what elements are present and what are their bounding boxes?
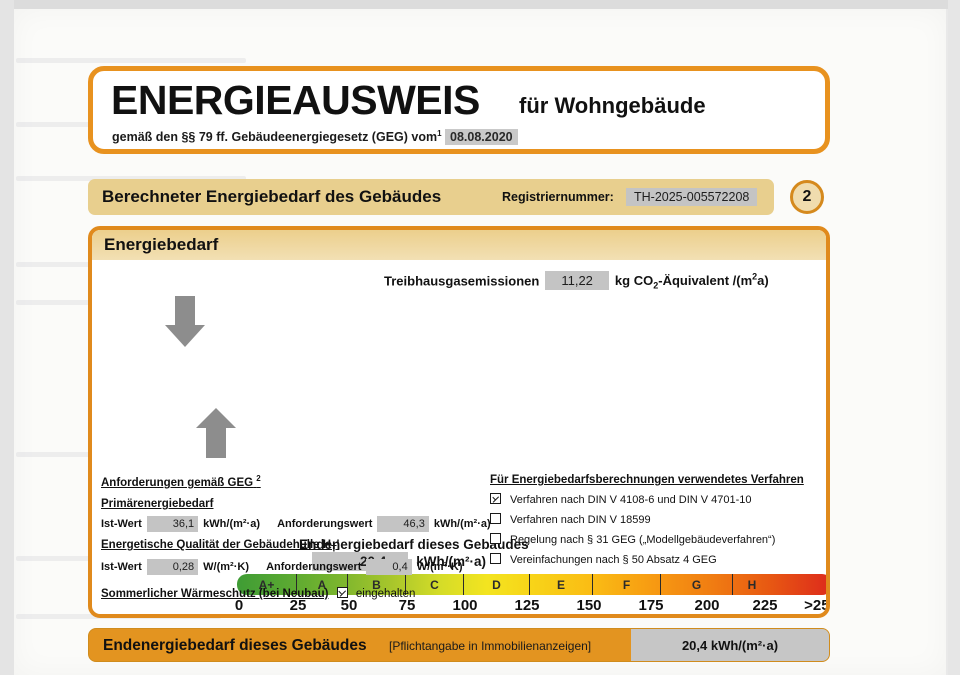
page-subtitle: für Wohngebäude xyxy=(519,93,706,119)
summer-heat-protection-row: Sommerlicher Wärmeschutz (bei Neubau) ei… xyxy=(101,587,491,600)
primary-required-value: 46,3 xyxy=(377,516,428,532)
legal-basis-text: gemäß den §§ 79 ff. Gebäudeenergiegesetz… xyxy=(112,130,437,144)
registration-number-value: TH-2025-005572208 xyxy=(626,188,757,206)
scan-edge-right xyxy=(948,0,960,675)
page-title: ENERGIEAUSWEIS xyxy=(111,77,480,124)
emissions-label: Treibhausgasemissionen xyxy=(384,273,539,288)
final-energy-arrow-icon xyxy=(165,325,205,347)
method-option-1[interactable]: Verfahren nach DIN V 4108-6 und DIN V 47… xyxy=(490,493,810,506)
energy-scale-ticks: 0255075100125150175200225>250 xyxy=(237,597,830,618)
scan-edge-top xyxy=(0,0,960,9)
energy-class-g: G xyxy=(661,574,733,595)
calculation-methods-heading: Für Energiebedarfsberechnungen verwendet… xyxy=(490,474,810,486)
primary-actual-unit: kWh/(m²·a) xyxy=(203,518,260,530)
method-checkbox-3[interactable] xyxy=(490,533,501,544)
primary-required-label: Anforderungswert xyxy=(277,518,372,530)
scan-edge-left xyxy=(0,0,14,675)
legal-basis-line: gemäß den §§ 79 ff. Gebäudeenergiegesetz… xyxy=(112,129,518,145)
summary-title: Endenergiebedarf dieses Gebäudes xyxy=(103,637,367,655)
registration-number-label: Registriernummer: xyxy=(502,190,614,204)
calculation-methods-block: Für Energiebedarfsberechnungen verwendet… xyxy=(490,474,810,566)
scale-tick-125: 125 xyxy=(514,597,539,614)
emissions-unit: kg CO2-Äquivalent /(m2a) xyxy=(615,273,769,288)
primary-energy-values-row: Ist-Wert36,1kWh/(m²·a) Anforderungswert4… xyxy=(101,518,491,530)
primary-actual-label: Ist-Wert xyxy=(101,518,142,530)
page-number-badge: 2 xyxy=(790,180,824,214)
envelope-values-row: Ist-Wert0,28W/(m²·K) Anforderungswert0,4… xyxy=(101,561,491,573)
method-checkbox-1[interactable] xyxy=(490,493,501,504)
summer-heat-protection-checkbox[interactable] xyxy=(337,587,348,598)
calculation-methods-list: Verfahren nach DIN V 4108-6 und DIN V 47… xyxy=(490,493,810,566)
envelope-required-value: 0,4 xyxy=(366,559,411,575)
scale-tick-225: 225 xyxy=(752,597,777,614)
envelope-required-unit: W/(m²·K) xyxy=(417,561,463,573)
scale-tick-gt250: >250 xyxy=(804,597,830,614)
registration-bar: Berechneter Energiebedarf des Gebäudes R… xyxy=(88,179,774,215)
panel-header-band: Energiebedarf xyxy=(92,230,826,260)
envelope-required-label: Anforderungswert xyxy=(266,561,361,573)
requirements-block: Anforderungen gemäß GEG 2 Primärenergieb… xyxy=(101,474,491,600)
envelope-actual-value: 0,28 xyxy=(147,559,198,575)
method-label-4: Vereinfachungen nach § 50 Absatz 4 GEG xyxy=(510,554,717,566)
energy-class-e: E xyxy=(530,574,593,595)
scale-tick-175: 175 xyxy=(638,597,663,614)
scanned-document-page: ENERGIEAUSWEIS für Wohngebäude gemäß den… xyxy=(0,0,960,675)
scale-tick-200: 200 xyxy=(694,597,719,614)
method-checkbox-4[interactable] xyxy=(490,553,501,564)
envelope-actual-unit: W/(m²·K) xyxy=(203,561,249,573)
primary-energy-subheading: Primärenergiebedarf xyxy=(101,498,491,510)
summary-value: 20,4 kWh/(m²·a) xyxy=(631,629,829,661)
envelope-subheading: Energetische Qualität der Gebäudehülle H… xyxy=(101,539,491,553)
method-label-1: Verfahren nach DIN V 4108-6 und DIN V 47… xyxy=(510,494,752,506)
method-checkbox-2[interactable] xyxy=(490,513,501,524)
primary-energy-arrow-icon xyxy=(196,408,236,428)
primary-actual-value: 36,1 xyxy=(147,516,198,532)
method-option-3[interactable]: Regelung nach § 31 GEG („Modellgebäudeve… xyxy=(490,533,810,546)
primary-required-unit: kWh/(m²·a) xyxy=(434,518,491,530)
summary-note: [Pflichtangabe in Immobilienanzeigen] xyxy=(389,639,591,653)
greenhouse-gas-emissions-row: Treibhausgasemissionen11,22kg CO2-Äquiva… xyxy=(384,272,769,291)
method-label-3: Regelung nach § 31 GEG („Modellgebäudeve… xyxy=(510,534,775,546)
envelope-actual-label: Ist-Wert xyxy=(101,561,142,573)
panel-heading: Energiebedarf xyxy=(104,235,218,255)
summer-heat-protection-label: Sommerlicher Wärmeschutz (bei Neubau) xyxy=(101,588,329,600)
method-option-2[interactable]: Verfahren nach DIN V 18599 xyxy=(490,513,810,526)
scale-tick-150: 150 xyxy=(576,597,601,614)
method-label-2: Verfahren nach DIN V 18599 xyxy=(510,514,651,526)
legal-basis-date: 08.08.2020 xyxy=(445,129,518,145)
section-heading-calculated-demand: Berechneter Energiebedarf des Gebäudes xyxy=(102,187,441,207)
requirements-heading: Anforderungen gemäß GEG 2 xyxy=(101,474,491,489)
final-energy-summary-bar: Endenergiebedarf dieses Gebäudes [Pflich… xyxy=(88,628,830,662)
energy-class-h: H xyxy=(733,574,771,595)
summer-heat-protection-status: eingehalten xyxy=(356,588,415,600)
energy-class-f: F xyxy=(593,574,661,595)
document-title-box: ENERGIEAUSWEIS für Wohngebäude gemäß den… xyxy=(88,66,830,154)
method-option-4[interactable]: Vereinfachungen nach § 50 Absatz 4 GEG xyxy=(490,553,810,566)
primary-energy-arrow-stem xyxy=(206,424,226,458)
legal-basis-footnote: 1 xyxy=(437,129,441,138)
scan-artifact xyxy=(16,58,246,63)
emissions-value: 11,22 xyxy=(545,271,609,290)
